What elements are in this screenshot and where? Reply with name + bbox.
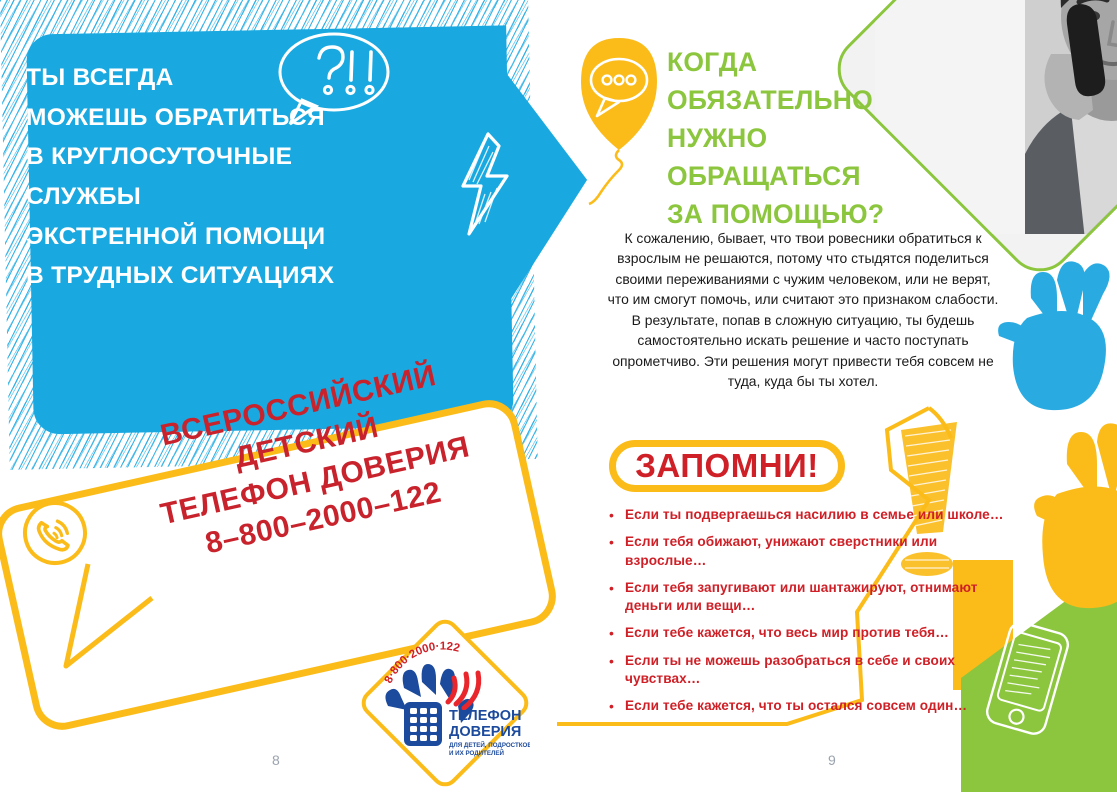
lightning-bolt-icon: [455, 132, 515, 236]
headline-line-2: МОЖЕШЬ ОБРАТИТЬСЯ: [26, 98, 446, 138]
bullet-marker: •: [609, 624, 625, 643]
headline-line-1: ТЫ ВСЕГДА: [26, 58, 446, 98]
svg-text:И ИХ РОДИТЕЛЕЙ: И ИХ РОДИТЕЛЕЙ: [449, 749, 504, 757]
list-item: • Если ты подвергаешься насилию в семье …: [609, 506, 1009, 525]
intro-paragraph: К сожалению, бывает, что твои ровесники …: [603, 228, 1003, 392]
logo-title-line1: ТЕЛЕФОН: [449, 708, 522, 724]
headline-line-5: ЭКСТРЕННОЙ ПОМОЩИ: [26, 217, 446, 257]
list-item: • Если тебя запугивают или шантажируют, …: [609, 579, 1009, 616]
headline-line-3: В КРУГЛОСУТОЧНЫЕ: [26, 137, 446, 177]
page-number-left: 8: [272, 752, 280, 768]
page-number-right: 9: [828, 752, 836, 768]
list-item-text: Если тебя обижают, унижают сверстники ил…: [625, 533, 1009, 570]
list-item-text: Если тебя запугивают или шантажируют, от…: [625, 579, 1009, 616]
list-item: • Если тебе кажется, что весь мир против…: [609, 624, 1009, 643]
left-page: ТЫ ВСЕГДА МОЖЕШЬ ОБРАТИТЬСЯ В КРУГЛОСУТО…: [0, 0, 560, 792]
list-item-text: Если тебе кажется, что ты остался совсем…: [625, 697, 967, 716]
yellow-hand-icon: [1031, 420, 1117, 620]
list-item-text: Если ты подвергаешься насилию в семье ил…: [625, 506, 1004, 525]
heading-line-2: ОБЯЗАТЕЛЬНО: [667, 82, 967, 120]
heading-line-4: ОБРАЩАТЬСЯ: [667, 158, 967, 196]
heading-line-3: НУЖНО: [667, 120, 967, 158]
trust-phone-logo: 8·800·2000·122: [352, 610, 530, 788]
brochure-spread: ТЫ ВСЕГДА МОЖЕШЬ ОБРАТИТЬСЯ В КРУГЛОСУТО…: [0, 0, 1117, 792]
bullet-marker: •: [609, 579, 625, 616]
bullet-marker: •: [609, 652, 625, 689]
list-item: • Если ты не можешь разобраться в себе и…: [609, 652, 1009, 689]
svg-text:ДОВЕРИЯ: ДОВЕРИЯ: [449, 724, 521, 740]
list-item: • Если тебе кажется, что ты остался совс…: [609, 697, 1009, 716]
list-item-text: Если ты не можешь разобраться в себе и с…: [625, 652, 1009, 689]
svg-text:ДЛЯ ДЕТЕЙ, ПОДРОСТКОВ: ДЛЯ ДЕТЕЙ, ПОДРОСТКОВ: [449, 741, 530, 749]
bullet-marker: •: [609, 533, 625, 570]
balloon-speech-bubble-icon: [575, 34, 663, 206]
right-page: КОГДА ОБЯЗАТЕЛЬНО НУЖНО ОБРАЩАТЬСЯ ЗА ПО…: [557, 0, 1117, 792]
list-item: • Если тебя обижают, унижают сверстники …: [609, 533, 1009, 570]
headline-line-6: В ТРУДНЫХ СИТУАЦИЯХ: [26, 256, 446, 296]
right-heading: КОГДА ОБЯЗАТЕЛЬНО НУЖНО ОБРАЩАТЬСЯ ЗА ПО…: [667, 44, 967, 233]
bullet-marker: •: [609, 506, 625, 525]
bullet-marker: •: [609, 697, 625, 716]
heading-line-1: КОГДА: [667, 44, 967, 82]
list-item-text: Если тебе кажется, что весь мир против т…: [625, 624, 949, 643]
warning-signs-list: • Если ты подвергаешься насилию в семье …: [609, 506, 1009, 725]
remember-label: ЗАПОМНИ!: [609, 440, 845, 492]
left-headline: ТЫ ВСЕГДА МОЖЕШЬ ОБРАТИТЬСЯ В КРУГЛОСУТО…: [26, 58, 446, 296]
phone-handset-icon: [16, 494, 95, 573]
headline-line-4: СЛУЖБЫ: [26, 177, 446, 217]
